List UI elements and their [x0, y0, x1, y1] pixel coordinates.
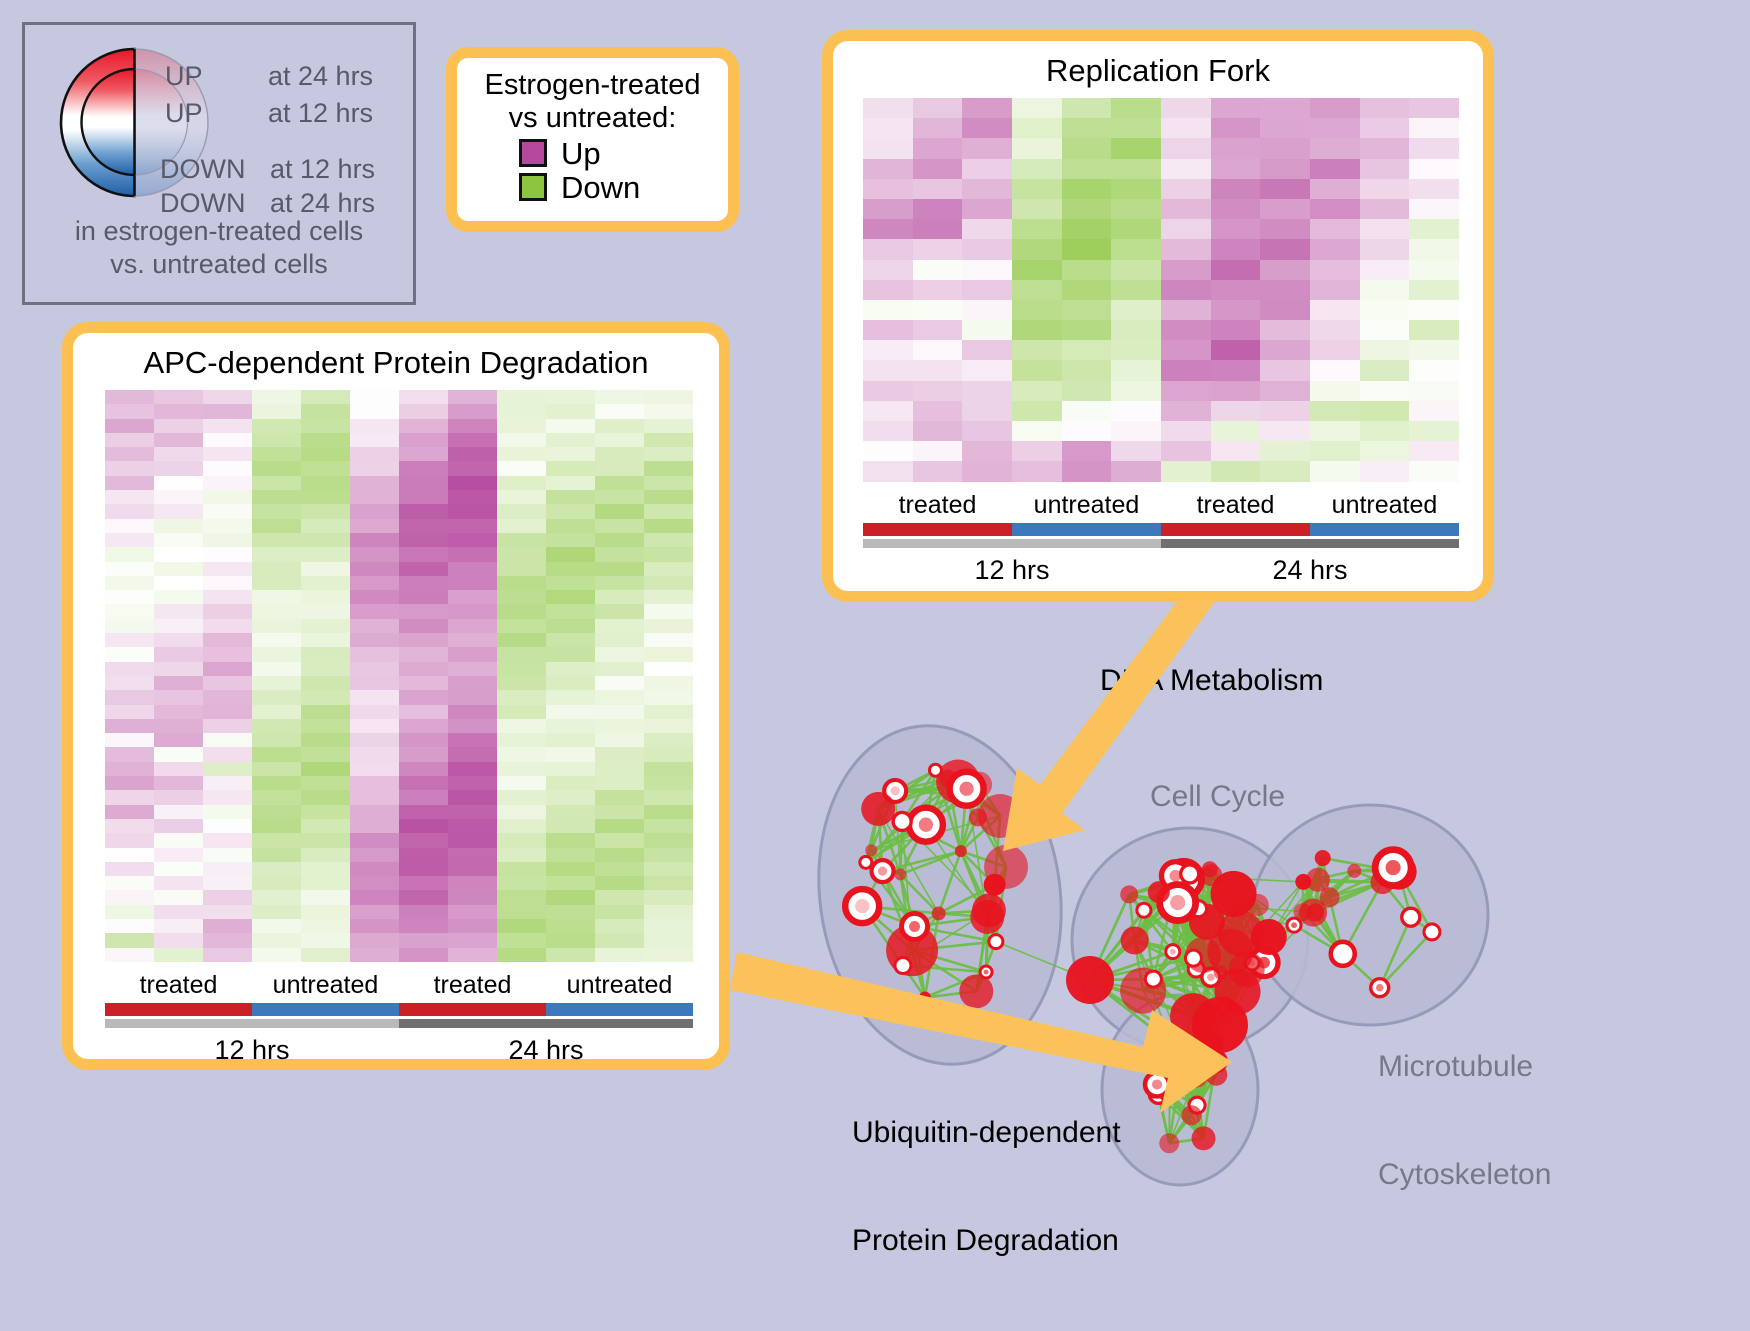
heatmap-cell: [1012, 421, 1062, 441]
heatmap-cell: [350, 676, 399, 690]
heatmap-cell: [863, 280, 913, 300]
heatmap-cell: [863, 441, 913, 461]
heatmap-cell: [1111, 98, 1161, 118]
heatmap-cell: [154, 562, 203, 576]
heatmap-cell: [1310, 159, 1360, 179]
heatmap-cell: [644, 747, 693, 761]
heatmap-cell: [154, 676, 203, 690]
replication-time-bars: [863, 539, 1459, 548]
heatmap-cell: [1409, 320, 1459, 340]
network-node: [1181, 865, 1199, 883]
heatmap-cell: [448, 933, 497, 947]
heatmap-cell: [1409, 159, 1459, 179]
heatmap-cell: [203, 747, 252, 761]
heatmap-cell: [962, 199, 1012, 219]
heatmap-cell: [497, 805, 546, 819]
heatmap-cell: [1211, 461, 1261, 481]
heatmap-cell: [962, 340, 1012, 360]
heatmap-cell: [962, 260, 1012, 280]
heatmap-cell: [546, 862, 595, 876]
heatmap-cell: [644, 476, 693, 490]
heatmap-cell: [203, 633, 252, 647]
heatmap-cell: [252, 562, 301, 576]
heatmap-cell: [350, 905, 399, 919]
heatmap-cell: [350, 919, 399, 933]
network-node: [1148, 881, 1170, 903]
heatmap-cell: [1211, 340, 1261, 360]
heatmap-cell: [1260, 461, 1310, 481]
heatmap-cell: [1360, 239, 1410, 259]
heatmap-cell: [1211, 441, 1261, 461]
heatmap-cell: [252, 719, 301, 733]
network-node-core: [1386, 860, 1401, 875]
network-node: [1175, 1057, 1191, 1073]
heatmap-cell: [105, 805, 154, 819]
network-node: [929, 764, 941, 776]
heatmap-cell: [1360, 421, 1410, 441]
heatmap-cell: [252, 461, 301, 475]
heatmap-cell: [154, 776, 203, 790]
heatmap-cell: [1111, 441, 1161, 461]
heatmap-cell: [1111, 179, 1161, 199]
heatmap-cell: [1111, 360, 1161, 380]
heatmap-cell: [350, 690, 399, 704]
heatmap-cell: [644, 504, 693, 518]
network-node: [1214, 965, 1228, 979]
heatmap-cell: [301, 504, 350, 518]
heatmap-cell: [448, 504, 497, 518]
apc-treatment-bars: [105, 1003, 693, 1016]
heatmap-cell: [1360, 381, 1410, 401]
heatmap-cell: [301, 762, 350, 776]
heatmap-cell: [203, 504, 252, 518]
heatmap-cell: [962, 179, 1012, 199]
heatmap-cell: [1260, 118, 1310, 138]
heatmap-cell: [105, 476, 154, 490]
heatmap-cell: [105, 576, 154, 590]
heatmap-cell: [399, 762, 448, 776]
network-label-dna-metabolism: DNA Metabolism: [1100, 664, 1323, 698]
heatmap-cell: [105, 490, 154, 504]
heatmap-cell: [105, 819, 154, 833]
grp-label-0: treated: [863, 491, 1012, 520]
heatmap-cell: [350, 576, 399, 590]
heatmap-cell: [301, 433, 350, 447]
bar-treated-12: [105, 1003, 252, 1016]
heatmap-cell: [1012, 219, 1062, 239]
heatmap-cell: [1012, 441, 1062, 461]
heatmap-cell: [962, 219, 1012, 239]
heatmap-cell: [546, 433, 595, 447]
heatmap-cell: [595, 562, 644, 576]
heatmap-cell: [644, 790, 693, 804]
network-node: [955, 845, 967, 857]
heatmap-cell: [497, 533, 546, 547]
heatmap-cell: [1260, 360, 1310, 380]
heatmap-cell: [1161, 219, 1211, 239]
heatmap-cell: [644, 805, 693, 819]
heatmap-cell: [497, 461, 546, 475]
heatmap-cell: [154, 419, 203, 433]
heatmap-cell: [105, 933, 154, 947]
heatmap-cell: [644, 662, 693, 676]
heatmap-cell: [497, 948, 546, 962]
heatmap-cell: [350, 733, 399, 747]
heatmap-cell: [1409, 260, 1459, 280]
heatmap-cell: [1161, 199, 1211, 219]
heatmap-cell: [962, 441, 1012, 461]
heatmap-cell: [1161, 421, 1211, 441]
heatmap-cell: [448, 762, 497, 776]
heatmap-cell: [1211, 360, 1261, 380]
heatmap-cell: [863, 401, 913, 421]
heatmap-cell: [644, 404, 693, 418]
heatmap-cell: [154, 833, 203, 847]
heatmap-cell: [1012, 260, 1062, 280]
heatmap-cell: [154, 790, 203, 804]
heatmap-cell: [497, 447, 546, 461]
heatmap-cell: [105, 447, 154, 461]
heatmap-cell: [399, 919, 448, 933]
heatmap-cell: [448, 690, 497, 704]
legend-row-2-direction: DOWN: [160, 154, 245, 185]
heatmap-cell: [154, 933, 203, 947]
heatmap-cell: [595, 476, 644, 490]
heatmap-cell: [448, 433, 497, 447]
heatmap-cell: [1260, 239, 1310, 259]
heatmap-cell: [1161, 98, 1211, 118]
heatmap-cell: [448, 576, 497, 590]
heatmap-cell: [1409, 179, 1459, 199]
network-node: [1200, 864, 1222, 886]
heatmap-cell: [448, 404, 497, 418]
microtubule-line1: Microtubule: [1378, 1049, 1551, 1085]
heatmap-cell: [448, 619, 497, 633]
network-node-core: [984, 970, 989, 975]
heatmap-cell: [350, 762, 399, 776]
network-node-core: [1170, 895, 1185, 910]
heatmap-cell: [301, 862, 350, 876]
heatmap-cell: [546, 590, 595, 604]
heatmap-cell: [1012, 179, 1062, 199]
heatmap-cell: [1360, 179, 1410, 199]
heatmap-cell: [105, 662, 154, 676]
heatmap-cell: [644, 948, 693, 962]
bar-untreated-24: [1310, 523, 1459, 536]
heatmap-cell: [1062, 421, 1112, 441]
heatmap-cell: [1310, 441, 1360, 461]
heatmap-cell: [1012, 239, 1062, 259]
heatmap-cell: [399, 819, 448, 833]
heatmap-cell: [1409, 401, 1459, 421]
heatmap-cell: [301, 662, 350, 676]
heatmap-cell: [497, 705, 546, 719]
heatmap-cell: [546, 390, 595, 404]
heatmap-cell: [644, 719, 693, 733]
heatmap-cell: [154, 604, 203, 618]
heatmap-cell: [913, 219, 963, 239]
heatmap-cell: [595, 705, 644, 719]
heatmap-cell: [644, 647, 693, 661]
heatmap-cell: [962, 421, 1012, 441]
heatmap-cell: [863, 381, 913, 401]
heatmap-cell: [350, 790, 399, 804]
grp-label-3: untreated: [546, 971, 693, 1000]
heatmap-cell: [546, 948, 595, 962]
heatmap-cell: [301, 905, 350, 919]
heatmap-cell: [252, 633, 301, 647]
heatmap-cell: [399, 747, 448, 761]
heatmap-cell: [644, 447, 693, 461]
heatmap-cell: [1111, 340, 1161, 360]
heatmap-cell: [252, 747, 301, 761]
heatmap-cell: [1012, 98, 1062, 118]
ubiquitin-line2: Protein Degradation: [852, 1223, 1121, 1259]
heatmap-cell: [350, 776, 399, 790]
heatmap-cell: [497, 690, 546, 704]
legend-row-1-direction: UP: [165, 98, 203, 129]
network-node: [1402, 908, 1420, 926]
heatmap-cell: [448, 476, 497, 490]
heatmap-cell: [1310, 340, 1360, 360]
grp-label-2: treated: [399, 971, 546, 1000]
heatmap-cell: [644, 633, 693, 647]
heatmap-cell: [1360, 280, 1410, 300]
heatmap-cell: [644, 590, 693, 604]
heatmap-cell: [546, 690, 595, 704]
heatmap-cell: [252, 676, 301, 690]
heatmap-cell: [962, 280, 1012, 300]
heatmap-cell: [301, 419, 350, 433]
heatmap-cell: [1211, 239, 1261, 259]
heatmap-cell: [350, 562, 399, 576]
heatmap-cell: [203, 676, 252, 690]
heatmap-cell: [546, 461, 595, 475]
heatmap-cell: [546, 676, 595, 690]
heatmap-cell: [1260, 280, 1310, 300]
heatmap-cell: [350, 862, 399, 876]
heatmap-cell: [1012, 320, 1062, 340]
heatmap-cell: [1111, 300, 1161, 320]
network-node: [861, 792, 895, 826]
heatmap-cell: [399, 619, 448, 633]
heatmap-cell: [350, 876, 399, 890]
heatmap-cell: [1062, 98, 1112, 118]
legend-row-0-time: at 24 hrs: [268, 61, 373, 92]
heatmap-cell: [1310, 461, 1360, 481]
network-node-core: [959, 782, 973, 796]
heatmap-cell: [105, 647, 154, 661]
heatmap-cell: [252, 862, 301, 876]
heatmap-cell: [863, 320, 913, 340]
heatmap-cell: [1409, 219, 1459, 239]
heatmap-cell: [1161, 461, 1211, 481]
heatmap-cell: [595, 747, 644, 761]
heatmap-cell: [1111, 118, 1161, 138]
heatmap-cell: [1161, 340, 1211, 360]
heatmap-cell: [301, 490, 350, 504]
heatmap-cell: [448, 633, 497, 647]
heatmap-cell: [546, 919, 595, 933]
heatmap-cell: [203, 562, 252, 576]
heatmap-cell: [350, 490, 399, 504]
heatmap-cell: [1211, 159, 1261, 179]
heatmap-cell: [301, 705, 350, 719]
heatmap-cell: [595, 676, 644, 690]
heatmap-cell: [1360, 461, 1410, 481]
heatmap-cell: [546, 733, 595, 747]
heatmap-cell: [546, 419, 595, 433]
heatmap-cell: [644, 519, 693, 533]
heatmap-cell: [644, 762, 693, 776]
heatmap-cell: [203, 919, 252, 933]
heatmap-cell: [350, 390, 399, 404]
heatmap-cell: [154, 647, 203, 661]
heatmap-cell: [350, 805, 399, 819]
heatmap-cell: [595, 447, 644, 461]
heatmap-cell: [301, 562, 350, 576]
network-node-core: [909, 921, 920, 932]
heatmap-cell: [863, 219, 913, 239]
heatmap-cell: [1310, 199, 1360, 219]
heatmap-cell: [1161, 441, 1211, 461]
heatmap-cell: [154, 662, 203, 676]
heatmap-cell: [863, 421, 913, 441]
network-node: [1185, 950, 1201, 966]
legend-row-2-time: at 12 hrs: [270, 154, 375, 185]
heatmap-cell: [1111, 138, 1161, 158]
heatmap-cell: [1260, 441, 1310, 461]
panel-replication-fork: Replication Fork treated untreated treat…: [822, 30, 1494, 602]
heatmap-cell: [448, 776, 497, 790]
heatmap-cell: [1062, 381, 1112, 401]
heatmap-cell: [546, 890, 595, 904]
heatmap-cell: [154, 433, 203, 447]
heatmap-cell: [497, 662, 546, 676]
heatmap-cell: [252, 547, 301, 561]
heatmap-cell: [1211, 138, 1261, 158]
heatmap-cell: [399, 805, 448, 819]
heatmap-cell: [105, 676, 154, 690]
heatmap-cell: [1211, 179, 1261, 199]
heatmap-cell: [399, 419, 448, 433]
heatmap-cell: [252, 662, 301, 676]
network-node-core: [878, 867, 887, 876]
heatmap-cell: [252, 833, 301, 847]
heatmap-cell: [913, 118, 963, 138]
heatmap-cell: [595, 576, 644, 590]
heatmap-cell: [448, 547, 497, 561]
heatmap-cell: [203, 590, 252, 604]
heatmap-cell: [448, 662, 497, 676]
heatmap-cell: [252, 504, 301, 518]
heatmap-cell: [863, 138, 913, 158]
heatmap-cell: [399, 404, 448, 418]
heatmap-cell: [1062, 441, 1112, 461]
network-node-core: [1207, 973, 1215, 981]
heatmap-cell: [350, 547, 399, 561]
heatmap-cell: [1360, 441, 1410, 461]
heatmap-cell: [350, 633, 399, 647]
heatmap-cell: [350, 619, 399, 633]
heatmap-cell: [497, 862, 546, 876]
heatmap-cell: [546, 576, 595, 590]
heatmap-cell: [1360, 138, 1410, 158]
network-node: [1306, 868, 1330, 892]
heatmap-cell: [1111, 280, 1161, 300]
heatmap-cell: [399, 890, 448, 904]
heatmap-cell: [595, 533, 644, 547]
heatmap-cell: [1260, 159, 1310, 179]
replication-time-labels: 12 hrs 24 hrs: [863, 555, 1459, 586]
heatmap-cell: [399, 519, 448, 533]
heatmap-cell: [252, 604, 301, 618]
heatmap-cell: [962, 138, 1012, 158]
heatmap-cell: [1012, 461, 1062, 481]
heatmap-cell: [105, 848, 154, 862]
heatmap-cell: [105, 590, 154, 604]
heatmap-cell: [399, 476, 448, 490]
heatmap-cell: [350, 705, 399, 719]
legend-row-1-time: at 12 hrs: [268, 98, 373, 129]
heatmap-cell: [399, 833, 448, 847]
heatmap-cell: [252, 805, 301, 819]
heatmap-cell: [1310, 118, 1360, 138]
heatmap-cell: [252, 490, 301, 504]
heatmap-cell: [644, 905, 693, 919]
heatmap-cell: [105, 705, 154, 719]
heatmap-cell: [644, 848, 693, 862]
heatmap-cell: [863, 461, 913, 481]
heatmap-cell: [1409, 118, 1459, 138]
panel-replication-title: Replication Fork: [833, 53, 1483, 89]
up-color-swatch: [519, 139, 547, 167]
heatmap-cell: [350, 933, 399, 947]
heatmap-cell: [497, 504, 546, 518]
updown-title-line1: Estrogen-treated: [457, 69, 728, 102]
heatmap-cell: [644, 819, 693, 833]
heatmap-cell: [399, 447, 448, 461]
heatmap-cell: [448, 876, 497, 890]
heatmap-cell: [203, 447, 252, 461]
heatmap-cell: [595, 490, 644, 504]
grp-label-1: untreated: [1012, 491, 1161, 520]
heatmap-cell: [595, 504, 644, 518]
heatmap-cell: [203, 619, 252, 633]
heatmap-cell: [399, 604, 448, 618]
heatmap-cell: [301, 404, 350, 418]
heatmap-cell: [448, 890, 497, 904]
heatmap-cell: [105, 519, 154, 533]
network-node-core: [919, 818, 933, 832]
heatmap-cell: [203, 733, 252, 747]
heatmap-cell: [203, 933, 252, 947]
heatmap-cell: [546, 833, 595, 847]
heatmap-cell: [1260, 381, 1310, 401]
heatmap-cell: [644, 919, 693, 933]
heatmap-cell: [1111, 239, 1161, 259]
heatmap-cell: [203, 461, 252, 475]
heatmap-cell: [1409, 138, 1459, 158]
heatmap-cell: [913, 179, 963, 199]
heatmap-cell: [497, 619, 546, 633]
heatmap-cell: [546, 805, 595, 819]
heatmap-cell: [913, 260, 963, 280]
heatmap-cell: [154, 719, 203, 733]
heatmap-cell: [105, 390, 154, 404]
heatmap-cell: [497, 762, 546, 776]
heatmap-cell: [595, 690, 644, 704]
